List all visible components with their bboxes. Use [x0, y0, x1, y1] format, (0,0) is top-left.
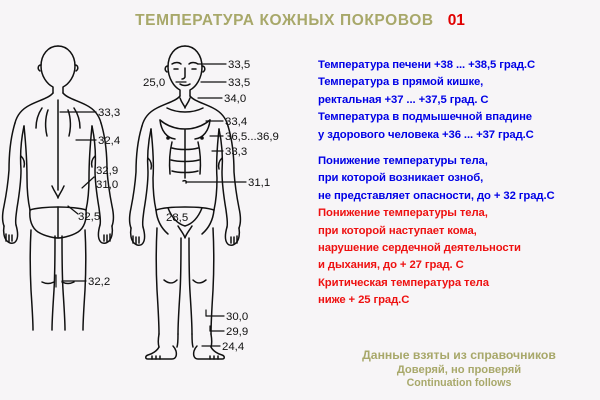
label-back-3: 31,0: [96, 179, 118, 191]
label-front-0: 33,5: [228, 59, 250, 71]
page-title-text: ТЕМПЕРАТУРА КОЖНЫХ ПОКРОВОВ: [135, 12, 434, 29]
label-front-7: 31,1: [248, 177, 270, 189]
panel-line-coma-3: нарушение сердечной деятельности: [318, 240, 600, 257]
footer-motto: Доверяй, но проверяй: [318, 363, 600, 377]
label-back-5: 32,2: [88, 276, 110, 288]
page-title: ТЕМПЕРАТУРА КОЖНЫХ ПОКРОВОВ01: [0, 12, 600, 30]
body-temperature-diagram: 33,3 32,4 32,9 31,0 32,5 32,2 33,5 25,0 …: [0, 38, 315, 368]
panel-line-coma-2: при которой наступает кома,: [318, 223, 600, 240]
label-back-2: 32,9: [96, 165, 118, 177]
panel-line-axillary-2: у здорового человека +36 ... +37 град.С: [318, 127, 600, 144]
label-front-9: 30,0: [226, 311, 248, 323]
panel-line-coma-1: Понижение температуры тела,: [318, 205, 600, 222]
panel-line-liver: Температура печени +38 ... +38,5 град.С: [318, 57, 600, 74]
anatomy-figures-svg: 33,3 32,4 32,9 31,0 32,5 32,2 33,5 25,0 …: [0, 38, 315, 368]
reference-values-panel: Температура печени +38 ... +38,5 град.С …: [318, 57, 600, 310]
label-back-0: 33,3: [98, 107, 120, 119]
panel-line-rectal-2: ректальная +37 ... +37,5 град. С: [318, 92, 600, 109]
label-front-4: 33,4: [225, 116, 247, 128]
footer-continuation: Continuation follows: [318, 377, 600, 390]
label-front-2: 33,5: [228, 77, 250, 89]
panel-line-chills-2: при которой возникает озноб,: [318, 170, 600, 187]
label-front-1: 25,0: [143, 77, 165, 89]
panel-line-critical-1: Критическая температура тела: [318, 275, 600, 292]
label-front-3: 34,0: [224, 93, 246, 105]
footer-source: Данные взяты из справочников: [318, 348, 600, 363]
panel-line-chills-3: не представляет опасности, до + 32 град.…: [318, 188, 600, 205]
footer-note: Данные взяты из справочников Доверяй, но…: [318, 348, 600, 390]
panel-line-chills-1: Понижение температуры тела,: [318, 153, 600, 170]
panel-line-critical-2: ниже + 25 град.С: [318, 292, 600, 309]
label-front-10: 29,9: [226, 326, 248, 338]
label-back-1: 32,4: [98, 135, 120, 147]
label-front-8: 28,5: [166, 212, 188, 224]
label-front-11: 24,4: [222, 341, 244, 353]
slide-root: ТЕМПЕРАТУРА КОЖНЫХ ПОКРОВОВ01: [0, 0, 600, 400]
slide-number-badge: 01: [448, 12, 465, 29]
panel-line-coma-4: и дыхания, до + 27 град. С: [318, 257, 600, 274]
panel-line-axillary-1: Температура в подмышечной впадине: [318, 109, 600, 126]
label-back-4: 32,5: [78, 211, 100, 223]
panel-line-rectal-1: Температура в прямой кишке,: [318, 74, 600, 91]
label-front-6: 33,3: [225, 146, 247, 158]
label-front-5: 36,5...36,9: [225, 131, 279, 143]
panel-spacer: [318, 144, 600, 153]
